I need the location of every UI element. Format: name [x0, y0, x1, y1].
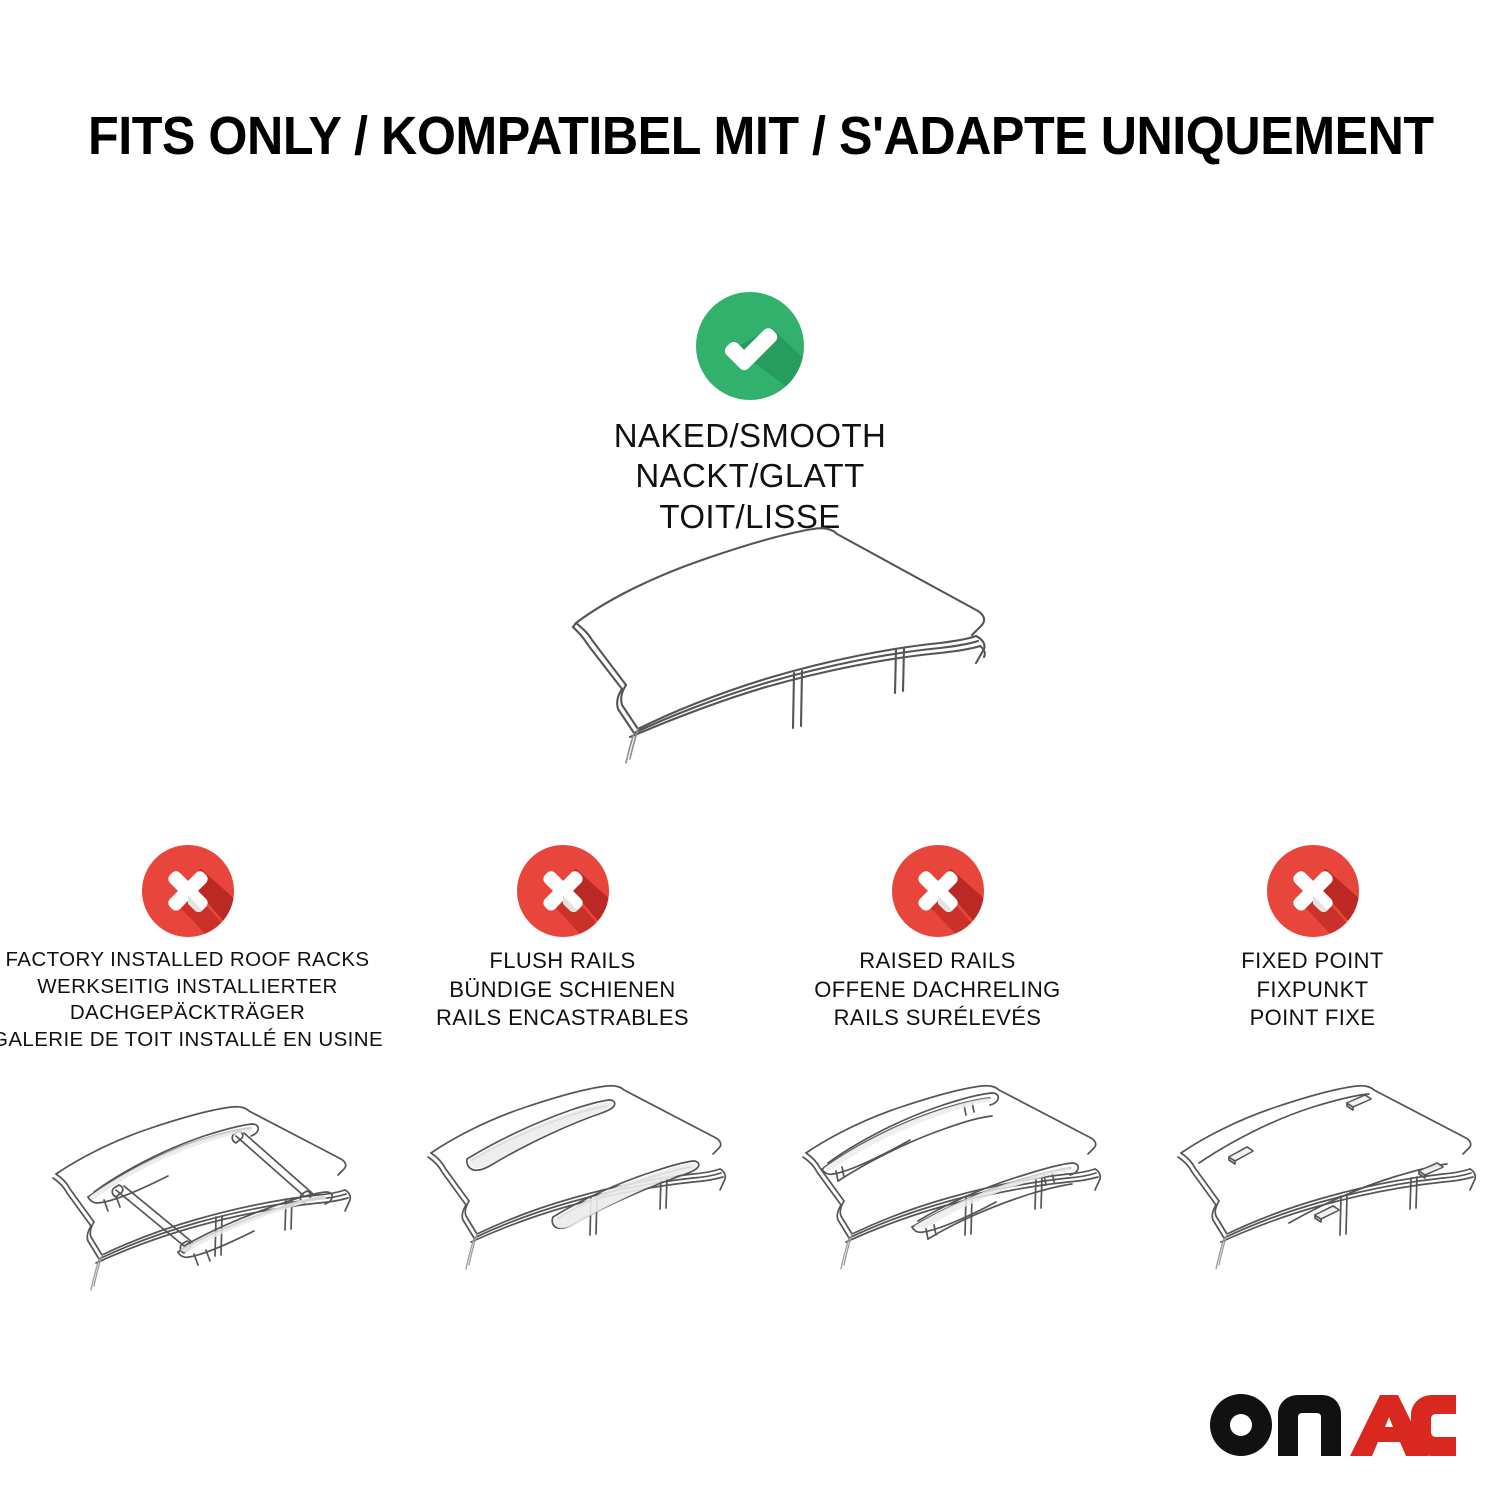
- label-4-line-1: FIXED POINT: [1241, 947, 1384, 976]
- check-badge-wrap: [0, 292, 1500, 400]
- approved-label-line-2: NACKT/GLATT: [0, 456, 1500, 496]
- label-2-line-2: BÜNDIGE SCHIENEN: [436, 976, 689, 1005]
- cross-circle-icon: [1267, 845, 1359, 937]
- not-supported-label-3: RAISED RAILS OFFENE DACHRELING RAILS SUR…: [814, 947, 1060, 1033]
- factory-roof-rack-illustration: [8, 1080, 368, 1300]
- check-circle-icon: [696, 292, 804, 400]
- approved-label-line-1: NAKED/SMOOTH: [0, 416, 1500, 456]
- label-2-line-1: FLUSH RAILS: [436, 947, 689, 976]
- not-supported-item-fixed-point: FIXED POINT FIXPUNKT POINT FIXE: [1125, 845, 1500, 1300]
- page-title: FITS ONLY / KOMPATIBEL MIT / S'ADAPTE UN…: [88, 108, 1334, 165]
- cross-circle-icon: [142, 845, 234, 937]
- raised-rails-illustration: [758, 1059, 1118, 1279]
- label-3-line-2: OFFENE DACHRELING: [814, 976, 1060, 1005]
- flush-rails-illustration: [383, 1059, 743, 1279]
- label-3-line-3: RAILS SURÉLEVÉS: [814, 1004, 1060, 1033]
- omac-logo: [1208, 1394, 1458, 1458]
- approved-section: NAKED/SMOOTH NACKT/GLATT TOIT/LISSE: [0, 292, 1500, 537]
- label-1-line-2: WERKSEITIG INSTALLIERTER: [0, 974, 383, 1001]
- not-supported-row: FACTORY INSTALLED ROOF RACKS WERKSEITIG …: [0, 845, 1500, 1300]
- fixed-point-illustration: [1133, 1059, 1493, 1279]
- cross-circle-icon: [517, 845, 609, 937]
- label-3-line-1: RAISED RAILS: [814, 947, 1060, 976]
- not-supported-label-4: FIXED POINT FIXPUNKT POINT FIXE: [1241, 947, 1384, 1033]
- naked-smooth-roof-illustration: [510, 515, 1010, 805]
- fitment-infographic: FITS ONLY / KOMPATIBEL MIT / S'ADAPTE UN…: [0, 0, 1500, 1500]
- not-supported-label-2: FLUSH RAILS BÜNDIGE SCHIENEN RAILS ENCAS…: [436, 947, 689, 1033]
- cross-badge-wrap-1: [142, 845, 234, 937]
- label-4-line-3: POINT FIXE: [1241, 1004, 1384, 1033]
- label-4-line-2: FIXPUNKT: [1241, 976, 1384, 1005]
- label-1-line-1: FACTORY INSTALLED ROOF RACKS: [0, 947, 383, 974]
- cross-circle-icon: [892, 845, 984, 937]
- not-supported-label-1: FACTORY INSTALLED ROOF RACKS WERKSEITIG …: [0, 947, 383, 1054]
- not-supported-item-raised-rails: RAISED RAILS OFFENE DACHRELING RAILS SUR…: [750, 845, 1125, 1300]
- label-2-line-3: RAILS ENCASTRABLES: [436, 1004, 689, 1033]
- not-supported-item-flush-rails: FLUSH RAILS BÜNDIGE SCHIENEN RAILS ENCAS…: [375, 845, 750, 1300]
- label-1-line-3: DACHGEPÄCKTRÄGER: [0, 1000, 383, 1027]
- omac-logo-mark: [1208, 1392, 1458, 1458]
- cross-badge-wrap-2: [517, 845, 609, 937]
- not-supported-item-factory-installed-roof-racks: FACTORY INSTALLED ROOF RACKS WERKSEITIG …: [0, 845, 375, 1300]
- cross-badge-wrap-4: [1267, 845, 1359, 937]
- cross-badge-wrap-3: [892, 845, 984, 937]
- label-1-line-4: GALERIE DE TOIT INSTALLÉ EN USINE: [0, 1027, 383, 1054]
